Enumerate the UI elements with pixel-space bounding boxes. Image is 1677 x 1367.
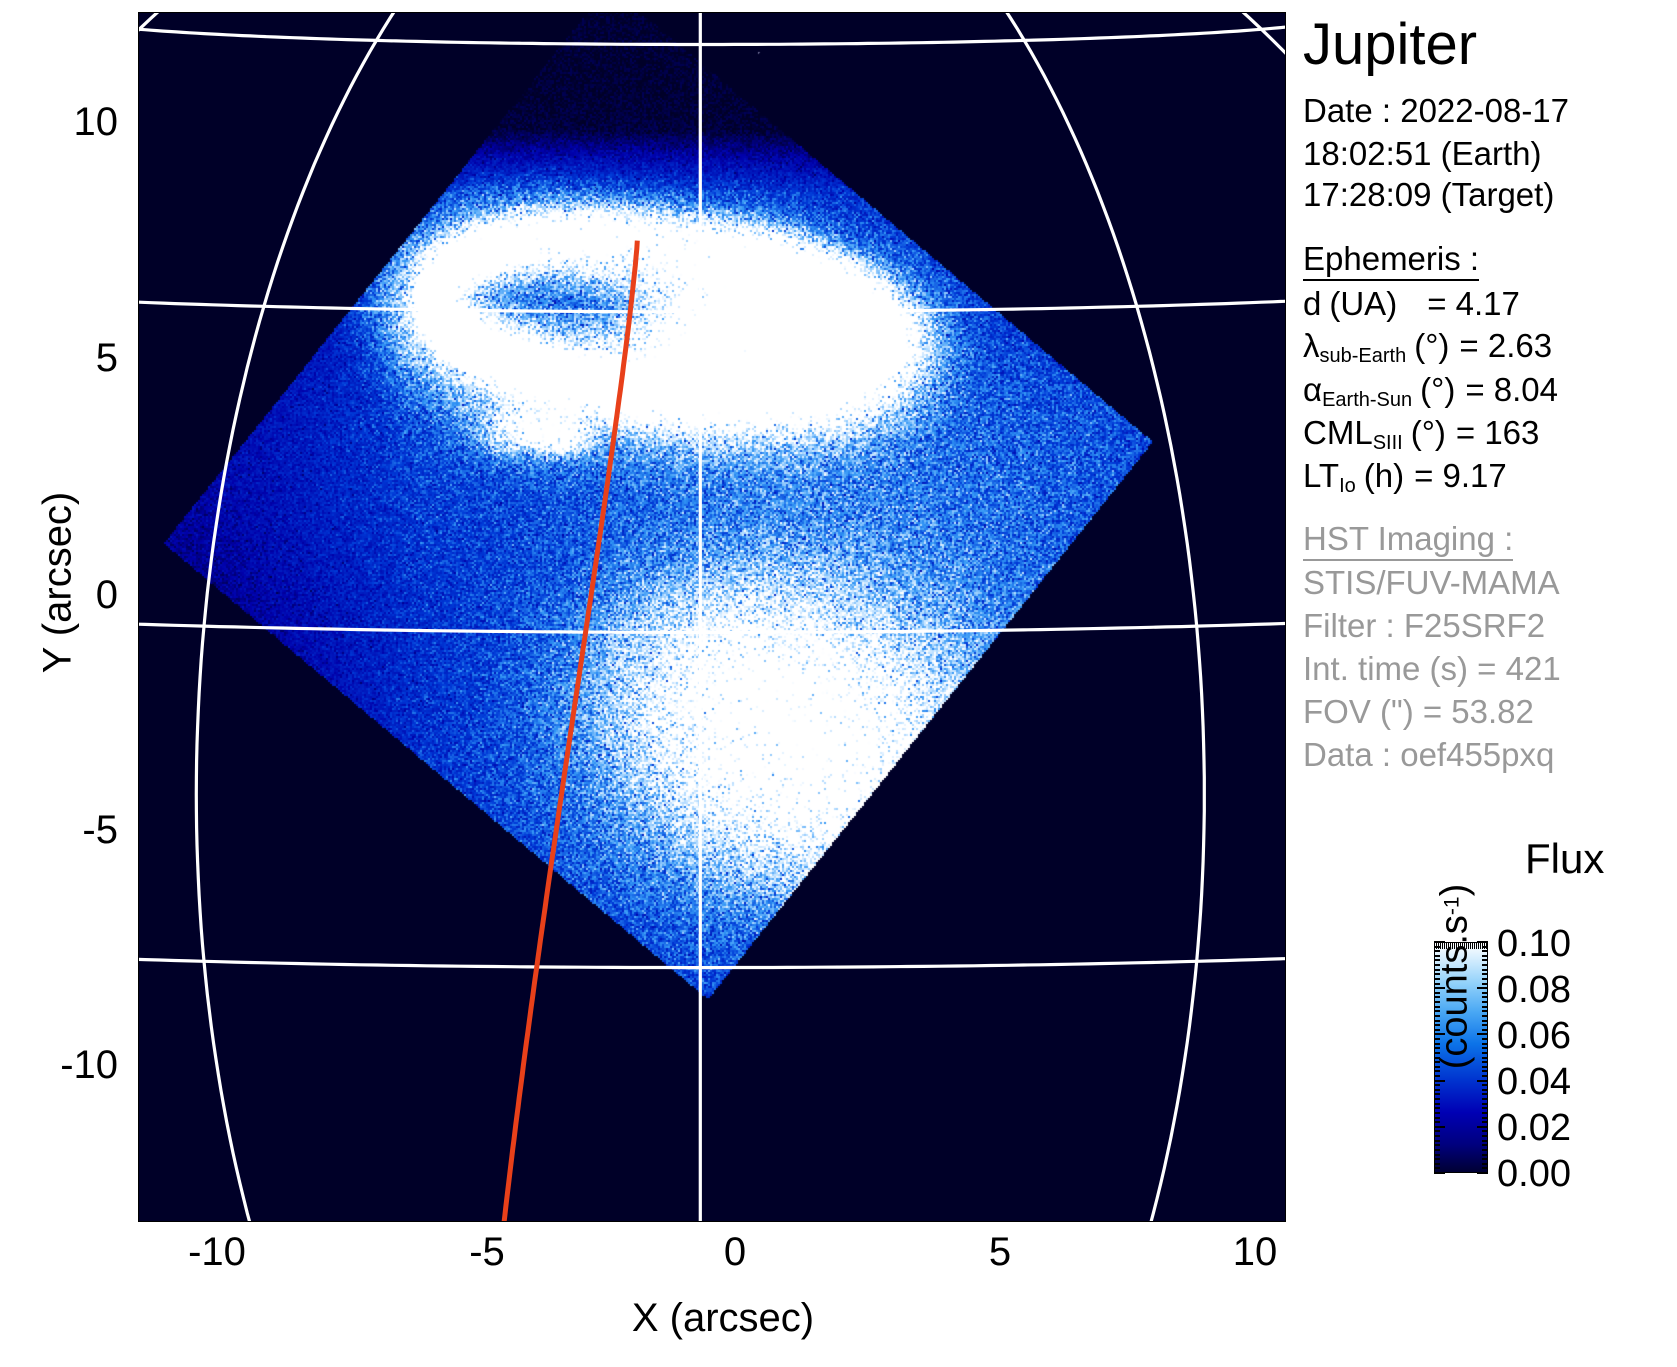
colorbar-tick-mark: [1482, 1167, 1488, 1169]
graticule-line: [138, 12, 474, 120]
colorbar-tick-mark: [1482, 1149, 1488, 1151]
graticule-line: [138, 950, 1286, 968]
colorbar-tick-mark: [1482, 1135, 1488, 1137]
x-tick-0: 0: [675, 1232, 795, 1272]
ephemeris-unit-cml: (°): [1411, 414, 1446, 451]
colorbar-tick-mark: [1482, 1010, 1488, 1012]
colorbar-tick-mark: [1486, 942, 1487, 949]
ephemeris-unit-lt: (h): [1364, 457, 1404, 494]
graticule-line: [797, 12, 1205, 1222]
y-tick-10: 10: [8, 102, 118, 142]
colorbar-tick-mark: [1482, 1103, 1488, 1105]
ephemeris-symbol-alpha: α: [1303, 371, 1322, 408]
colorbar-tick-010: 0.10: [1497, 925, 1571, 963]
colorbar-tick-mark: [1434, 1117, 1440, 1119]
y-axis-title: Y (arcsec): [36, 433, 81, 733]
colorbar-tick-000: 0.00: [1497, 1155, 1571, 1193]
ephemeris-heading: Ephemeris :: [1303, 240, 1479, 281]
instrument-detector: STIS/FUV-MAMA: [1303, 564, 1560, 602]
colorbar-tick-mark: [1480, 942, 1481, 949]
ephemeris-sub-lambda: sub-Earth: [1320, 345, 1407, 367]
y-tick-5: 5: [8, 338, 118, 378]
colorbar-tick-mark: [1434, 1167, 1440, 1169]
colorbar-tick-mark: [1482, 1121, 1488, 1123]
colorbar-tick-mark: [1482, 1070, 1488, 1072]
ephemeris-symbol-cml: CML: [1303, 414, 1373, 451]
colorbar-tick-mark: [1434, 1140, 1440, 1142]
colorbar-unit-close: ): [1434, 884, 1476, 897]
colorbar-tick-mark: [1434, 1135, 1440, 1137]
colorbar-tick-mark: [1434, 1126, 1445, 1128]
colorbar-tick-mark: [1482, 973, 1488, 975]
colorbar-tick-mark: [1482, 1154, 1488, 1156]
ephemeris-heading-text: Ephemeris :: [1303, 240, 1479, 281]
colorbar-tick-mark: [1482, 1061, 1488, 1063]
colorbar-tick-mark: [1434, 1172, 1445, 1174]
colorbar-tick-mark: [1482, 950, 1488, 952]
colorbar-tick-mark: [1482, 1015, 1488, 1017]
colorbar-tick-006: 0.06: [1497, 1017, 1571, 1055]
colorbar-tick-mark: [1482, 1098, 1488, 1100]
colorbar-tick-mark: [1482, 942, 1483, 949]
colorbar-tick-mark: [1482, 1001, 1488, 1003]
graticule-line: [138, 12, 519, 1222]
y-tick-neg5: -5: [8, 810, 118, 850]
colorbar-tick-mark: [1434, 1149, 1440, 1151]
colorbar-tick-mark: [1477, 987, 1488, 989]
colorbar-tick-mark: [1482, 1107, 1488, 1109]
colorbar-tick-mark: [1482, 1144, 1488, 1146]
x-tick-neg5: -5: [427, 1232, 547, 1272]
instrument-data-id: Data : oef455pxq: [1303, 736, 1554, 774]
instrument-filter: Filter : F25SRF2: [1303, 607, 1545, 645]
colorbar-tick-008: 0.08: [1497, 971, 1571, 1009]
colorbar-tick-mark: [1482, 1158, 1488, 1160]
colorbar-tick-mark: [1482, 1038, 1488, 1040]
colorbar-tick-mark: [1482, 996, 1488, 998]
colorbar-tick-mark: [1482, 1047, 1488, 1049]
ephemeris-value-d: = 4.17: [1427, 285, 1520, 322]
colorbar-tick-mark: [1434, 1163, 1440, 1165]
target-title: Jupiter: [1303, 14, 1477, 76]
colorbar-tick-mark: [1482, 959, 1488, 961]
colorbar-tick-mark: [1482, 1024, 1488, 1026]
colorbar-unit-label: (counts.s-1): [1434, 837, 1477, 1117]
colorbar-tick-mark: [1482, 1057, 1488, 1059]
colorbar-tick-004: 0.04: [1497, 1063, 1571, 1101]
ephemeris-symbol-lt: LT: [1303, 457, 1339, 494]
colorbar-tick-mark: [1482, 1093, 1488, 1095]
graticule-line: [196, 12, 604, 1222]
aurora-image-plot: [138, 12, 1286, 1222]
graticule-line: [138, 13, 1286, 45]
colorbar-tick-002: 0.02: [1497, 1109, 1571, 1147]
colorbar-tick-mark: [1434, 1130, 1440, 1132]
ephemeris-symbol-lambda: λ: [1303, 327, 1320, 364]
obs-time-earth: 18:02:51 (Earth): [1303, 135, 1541, 173]
colorbar-tick-mark: [1482, 1117, 1488, 1119]
graticule-line: [138, 289, 1286, 312]
planet-graticule: [138, 12, 1286, 1222]
instrument-fov: FOV (") = 53.82: [1303, 693, 1534, 731]
colorbar-tick-mark: [1434, 1154, 1440, 1156]
colorbar-tick-mark: [1482, 983, 1488, 985]
graticule-line: [882, 12, 1286, 1222]
grid-overlay: [138, 12, 1286, 1222]
colorbar-tick-mark: [1477, 1080, 1488, 1082]
x-tick-10: 10: [1195, 1232, 1315, 1272]
colorbar-tick-mark: [1434, 1121, 1440, 1123]
colorbar-tick-mark: [1482, 1043, 1488, 1045]
colorbar-tick-mark: [1478, 942, 1479, 949]
colorbar-tick-mark: [1482, 978, 1488, 980]
colorbar-tick-mark: [1482, 1112, 1488, 1114]
ephemeris-value-lambda: = 2.63: [1459, 327, 1552, 364]
colorbar-tick-mark: [1482, 964, 1488, 966]
colorbar-tick-mark: [1482, 1140, 1488, 1142]
colorbar-tick-mark: [1434, 1144, 1440, 1146]
obs-date: Date : 2022-08-17: [1303, 92, 1569, 130]
graticule-line: [138, 615, 1286, 633]
colorbar-tick-mark: [1434, 1158, 1440, 1160]
io-footprint-trace: [502, 241, 637, 1222]
y-tick-neg10: -10: [8, 1045, 118, 1085]
x-tick-neg10: -10: [157, 1232, 277, 1272]
colorbar-tick-mark: [1482, 1020, 1488, 1022]
colorbar-title: Flux: [1525, 835, 1604, 883]
ephemeris-row-distance: d(UA)= 4.17: [1303, 285, 1520, 323]
instrument-int-time: Int. time (s) = 421: [1303, 650, 1561, 688]
x-tick-5: 5: [940, 1232, 1060, 1272]
ephemeris-sub-alpha: Earth-Sun: [1322, 389, 1412, 411]
colorbar-tick-mark: [1482, 1130, 1488, 1132]
ephemeris-symbol-d: d: [1303, 285, 1321, 322]
colorbar-unit-text: (counts.s: [1434, 915, 1476, 1069]
colorbar-tick-mark: [1482, 1163, 1488, 1165]
colorbar-tick-mark: [1482, 1075, 1488, 1077]
colorbar-tick-mark: [1477, 1033, 1488, 1035]
ephemeris-row-cml: CMLSIII(°)= 163: [1303, 414, 1539, 457]
obs-time-target: 17:28:09 (Target): [1303, 176, 1554, 214]
ephemeris-value-lt: = 9.17: [1414, 457, 1507, 494]
colorbar-tick-mark: [1482, 1084, 1488, 1086]
instrument-heading-text: HST Imaging :: [1303, 520, 1513, 561]
colorbar-tick-mark: [1482, 1066, 1488, 1068]
graticule-line: [138, 12, 1286, 1222]
ephemeris-value-cml: = 163: [1456, 414, 1540, 451]
ephemeris-value-alpha: = 8.04: [1465, 371, 1558, 408]
colorbar-tick-mark: [1482, 1052, 1488, 1054]
colorbar-tick-mark: [1484, 942, 1485, 949]
colorbar-tick-mark: [1482, 1006, 1488, 1008]
colorbar-tick-mark: [1482, 955, 1488, 957]
colorbar-tick-mark: [1482, 969, 1488, 971]
colorbar-tick-mark: [1482, 1089, 1488, 1091]
ephemeris-unit-lambda: (°): [1414, 327, 1449, 364]
ephemeris-unit-alpha: (°): [1420, 371, 1455, 408]
colorbar-tick-mark: [1482, 992, 1488, 994]
colorbar-tick-mark: [1482, 1029, 1488, 1031]
ephemeris-unit-d: (UA): [1329, 285, 1397, 322]
x-axis-title: X (arcsec): [563, 1296, 883, 1341]
instrument-heading: HST Imaging :: [1303, 520, 1513, 561]
ephemeris-row-lambda: λsub-Earth(°)= 2.63: [1303, 327, 1552, 370]
colorbar-tick-mark: [1477, 1172, 1488, 1174]
ephemeris-sub-cml: SIII: [1373, 432, 1403, 454]
colorbar-unit-exponent: -1: [1441, 896, 1464, 915]
ephemeris-row-lt: LTIo(h)= 9.17: [1303, 457, 1507, 500]
ephemeris-sub-lt: Io: [1339, 475, 1356, 497]
ephemeris-row-alpha: αEarth-Sun(°)= 8.04: [1303, 371, 1558, 414]
colorbar-tick-mark: [1477, 1126, 1488, 1128]
